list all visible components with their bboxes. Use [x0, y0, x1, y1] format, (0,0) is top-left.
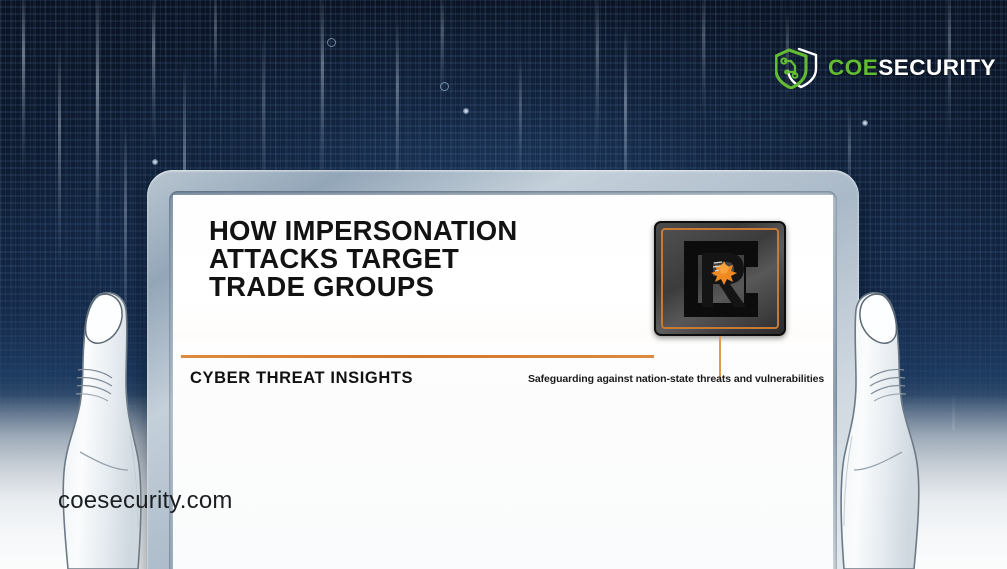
slide-canvas: COESECURITY HOW IMPERSONATION ATTACKS TA… [0, 0, 1007, 569]
site-url[interactable]: coesecurity.com [58, 487, 233, 515]
shield-circuit-icon [775, 47, 819, 89]
orange-divider [181, 355, 654, 358]
brand-logo[interactable]: COESECURITY [775, 47, 996, 89]
hand-holding-right-icon [812, 286, 940, 569]
brand-word-coe: COE [828, 55, 878, 80]
emblem-frame [661, 228, 779, 329]
tablet-device: HOW IMPERSONATION ATTACKS TARGET TRADE G… [147, 170, 859, 569]
brand-wordmark: COESECURITY [828, 57, 996, 80]
section-kicker: CYBER THREAT INSIGHTS [190, 369, 413, 388]
tablet-bezel-inner: HOW IMPERSONATION ATTACKS TARGET TRADE G… [169, 191, 837, 569]
hand-holding-left-icon [42, 286, 170, 569]
slide-tagline: Safeguarding against nation-state threat… [528, 373, 810, 385]
page-title: HOW IMPERSONATION ATTACKS TARGET TRADE G… [209, 217, 639, 301]
headline-line-2: ATTACKS TARGET [209, 245, 639, 273]
headline-line-3: TRADE GROUPS [209, 273, 639, 301]
brand-word-security: SECURITY [878, 55, 996, 80]
monogram-emblem-icon [654, 221, 786, 336]
headline-line-1: HOW IMPERSONATION [209, 217, 639, 245]
tablet-screen[interactable]: HOW IMPERSONATION ATTACKS TARGET TRADE G… [173, 195, 833, 569]
